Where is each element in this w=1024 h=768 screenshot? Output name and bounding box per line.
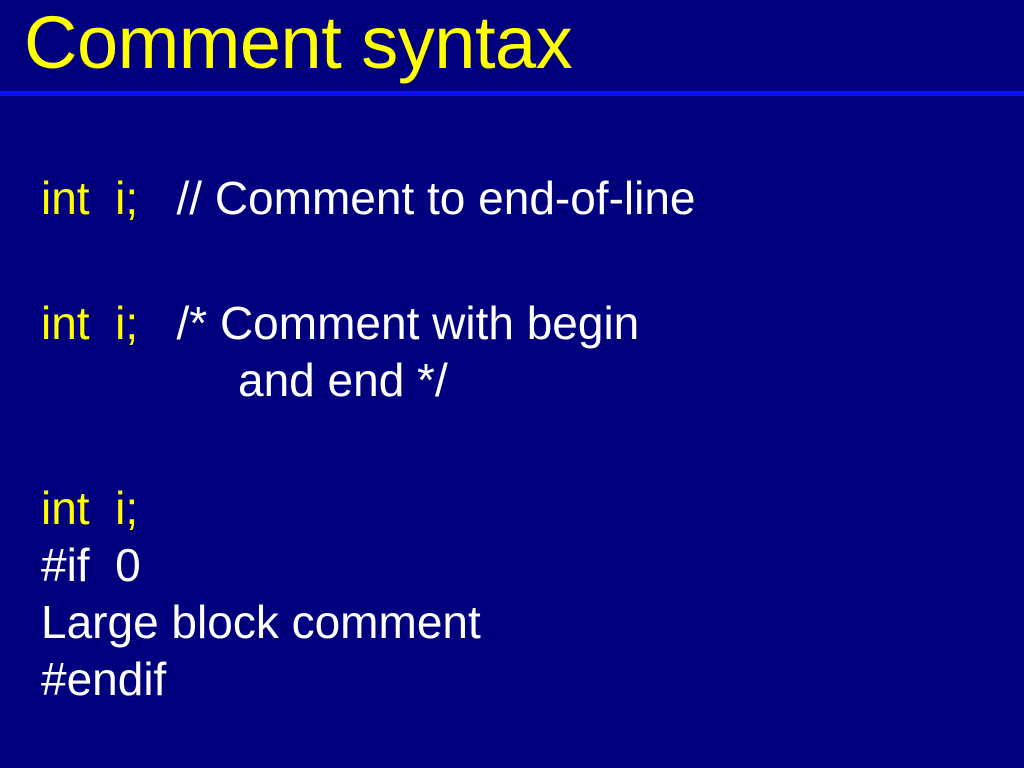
code-gap [138,297,176,349]
code-block-block-comment: int i; /* Comment with begin and end */ [41,295,639,409]
slide-body: int i; // Comment to end-of-line int i; … [0,96,1024,768]
code-keyword: int i; [41,172,138,224]
code-comment: // Comment to end-of-line [177,172,696,224]
code-comment: and end */ [238,354,448,406]
page-title: Comment syntax [24,6,572,80]
code-line-continuation: and end */ [41,352,639,409]
code-line: #endif [41,651,481,708]
code-directive-if: #if 0 [41,539,141,591]
code-comment: /* Comment with begin [177,297,640,349]
code-comment-text: Large block comment [41,596,481,648]
code-block-preprocessor-comment: int i; #if 0 Large block comment #endif [41,480,481,708]
code-line: int i; // Comment to end-of-line [41,170,696,227]
code-line: int i; [41,480,481,537]
code-block-line-comment: int i; // Comment to end-of-line [41,170,696,227]
code-line: Large block comment [41,594,481,651]
code-gap [138,172,176,224]
code-keyword: int i; [41,297,138,349]
title-band: Comment syntax [0,0,1024,92]
code-keyword: int i; [41,482,138,534]
code-directive-endif: #endif [41,653,166,705]
code-line: int i; /* Comment with begin [41,295,639,352]
slide: Comment syntax int i; // Comment to end-… [0,0,1024,768]
code-line: #if 0 [41,537,481,594]
